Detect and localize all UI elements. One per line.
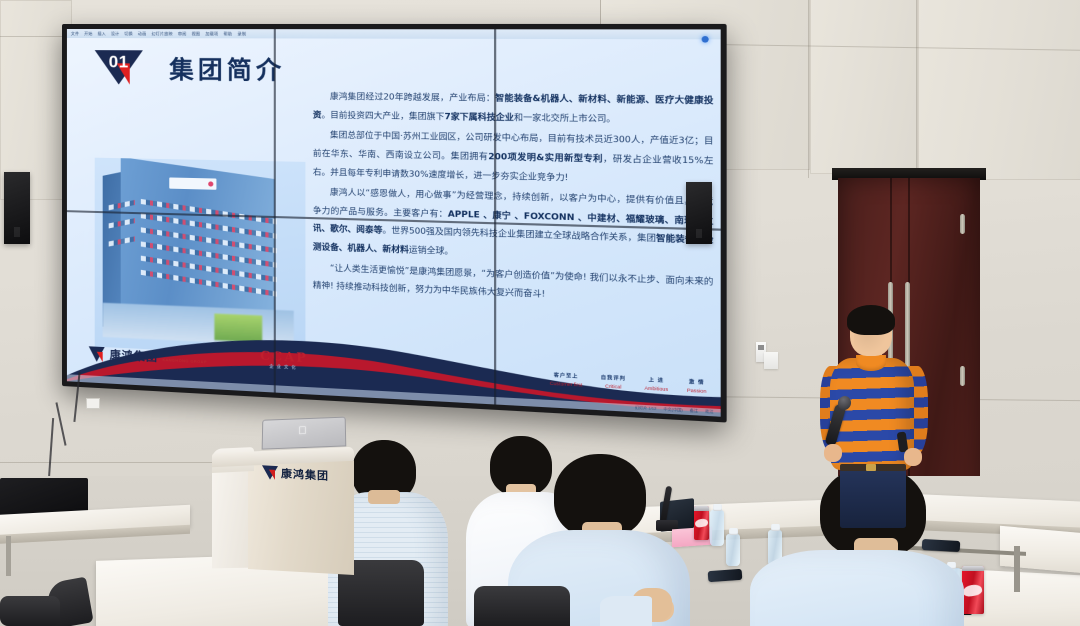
office-chair-4 bbox=[0, 596, 60, 626]
value-item: 客户至上 Customer first bbox=[550, 372, 583, 388]
coke-can bbox=[694, 506, 709, 540]
podium-logo-label: 康鸿集团 bbox=[281, 465, 329, 484]
door-hinge-plate bbox=[960, 214, 965, 234]
text-run: 运销全球。 bbox=[409, 244, 454, 256]
table-leg bbox=[1014, 546, 1020, 592]
lcd-video-wall[interactable]: 文件 开始 插入 设计 切换 动画 幻灯片放映 审阅 视图 加载项 帮助 录制 bbox=[62, 24, 727, 423]
attendee-1-neck bbox=[368, 490, 400, 504]
wall-speaker-right-icon bbox=[686, 182, 712, 244]
ccap-text: CCAP bbox=[260, 348, 308, 365]
status-notes-button[interactable]: 备注 bbox=[690, 408, 698, 414]
wall-seam-h3 bbox=[0, 462, 240, 463]
menu-item-slideshow[interactable]: 幻灯片放映 bbox=[151, 29, 172, 38]
menu-item-animations[interactable]: 动画 bbox=[138, 29, 146, 38]
powerpoint-slide: 文件 开始 插入 设计 切换 动画 幻灯片放映 审阅 视图 加载项 帮助 录制 bbox=[67, 29, 721, 417]
status-comments-button[interactable]: 批注 bbox=[705, 409, 713, 415]
water-bottle bbox=[710, 510, 724, 546]
menu-item-home[interactable]: 开始 bbox=[84, 29, 92, 38]
video-wall-bezel-vertical bbox=[274, 29, 276, 392]
menu-item-transitions[interactable]: 切换 bbox=[124, 29, 132, 38]
macbook-laptop[interactable]:  bbox=[258, 418, 350, 452]
water-bottle bbox=[726, 534, 740, 566]
value-cn: 上 进 bbox=[644, 377, 668, 385]
wall-panel-4 bbox=[918, 0, 1080, 180]
text-run-bold: 200项发明&实用新型专利 bbox=[488, 151, 603, 164]
value-cn: 客户至上 bbox=[550, 372, 583, 380]
slide-paragraph-2: 集团总部位于中国·苏州工业园区，公司研发中心布局，目前有技术员近300人，产值近… bbox=[313, 126, 714, 190]
presenter-person bbox=[818, 308, 948, 528]
wall-speaker-left-icon bbox=[4, 172, 30, 244]
table-far-right bbox=[1000, 526, 1080, 574]
text-run: 。目前投资四大产业，集团旗下 bbox=[321, 109, 444, 121]
footer-logo-cn: 康鸿集团 bbox=[110, 348, 158, 364]
menu-item-insert[interactable]: 插入 bbox=[98, 29, 106, 38]
value-item: 激 情 Passion bbox=[687, 379, 706, 394]
presenter-left-hand bbox=[824, 444, 842, 462]
text-run: 和一家北交所上市公司。 bbox=[514, 111, 616, 123]
attendee-4-shirt bbox=[750, 550, 964, 626]
value-en: Ambitious bbox=[644, 385, 668, 392]
menu-item-design[interactable]: 设计 bbox=[111, 29, 119, 38]
wall-seam-v1 bbox=[808, 0, 809, 178]
smartphone[interactable] bbox=[708, 569, 743, 582]
conference-room-scene: 文件 开始 插入 设计 切换 动画 幻灯片放映 审阅 视图 加载项 帮助 录制 bbox=[0, 0, 1080, 626]
slide-number-badge: 01 bbox=[95, 50, 143, 85]
presenter-belt-buckle bbox=[866, 464, 876, 471]
menu-item-view[interactable]: 视图 bbox=[192, 29, 201, 38]
value-cn: 自我评判 bbox=[601, 375, 626, 383]
menu-item-addins[interactable]: 加载项 bbox=[205, 29, 218, 38]
slide-title: 集团简介 bbox=[169, 49, 285, 86]
attendee-5-sleeve bbox=[600, 596, 652, 626]
value-cn: 激 情 bbox=[687, 379, 706, 387]
kanghong-logo-icon bbox=[89, 346, 106, 362]
podium-left-panel bbox=[212, 464, 252, 569]
slide-number-label: 01 bbox=[95, 52, 143, 72]
text-run-bold: 7家下属科技企业 bbox=[444, 110, 513, 122]
footer-logo-en: KANGHONG GROUP bbox=[163, 358, 208, 364]
value-item: 上 进 Ambitious bbox=[644, 377, 668, 392]
status-slide-count: 幻灯片 1/12 bbox=[635, 406, 656, 413]
status-language: 中文(中国) bbox=[663, 407, 682, 413]
menu-item-file[interactable]: 文件 bbox=[71, 29, 79, 38]
remote-holder-plate[interactable] bbox=[764, 352, 778, 369]
text-run: 康鸿集团经过20年跨越发展，产业布局： bbox=[330, 91, 495, 103]
display-status-indicator bbox=[702, 36, 709, 43]
ccap-label: CCAP 企业文化 bbox=[260, 348, 308, 371]
kanghong-logo-icon bbox=[262, 465, 278, 480]
apple-logo-icon:  bbox=[298, 426, 307, 436]
presenter-hair bbox=[847, 305, 895, 335]
power-outlet bbox=[86, 398, 100, 409]
wall-seam-v2 bbox=[916, 0, 917, 182]
slide-paragraph-1: 康鸿集团经过20年跨越发展，产业布局：智能装备&机器人、新材料、新能源、医疗大健… bbox=[313, 87, 714, 129]
menu-item-help[interactable]: 帮助 bbox=[224, 29, 233, 38]
wall-panel-3 bbox=[810, 0, 918, 174]
table-leg bbox=[6, 536, 11, 576]
value-item: 自我评判 Critical bbox=[601, 375, 626, 390]
building-signboard bbox=[169, 177, 216, 189]
powerpoint-menubar[interactable]: 文件 开始 插入 设计 切换 动画 幻灯片放映 审阅 视图 加载项 帮助 录制 bbox=[67, 29, 721, 39]
presenter-right-hand bbox=[904, 448, 922, 466]
menu-item-review[interactable]: 审阅 bbox=[178, 29, 187, 38]
presenter-collar bbox=[856, 355, 886, 371]
video-wall-bezel-vertical bbox=[494, 29, 496, 404]
office-chair-2 bbox=[474, 586, 570, 626]
slide-header: 01 集团简介 bbox=[95, 49, 286, 86]
value-en: Passion bbox=[687, 388, 706, 394]
video-wall-screen: 文件 开始 插入 设计 切换 动画 幻灯片放映 审阅 视图 加载项 帮助 录制 bbox=[67, 29, 721, 417]
slide-body-text: 康鸿集团经过20年跨越发展，产业布局：智能装备&机器人、新材料、新能源、医疗大健… bbox=[313, 87, 714, 313]
menu-item-record[interactable]: 录制 bbox=[237, 29, 246, 38]
presenter-trousers bbox=[840, 466, 906, 528]
door-hinge-plate bbox=[960, 366, 965, 386]
